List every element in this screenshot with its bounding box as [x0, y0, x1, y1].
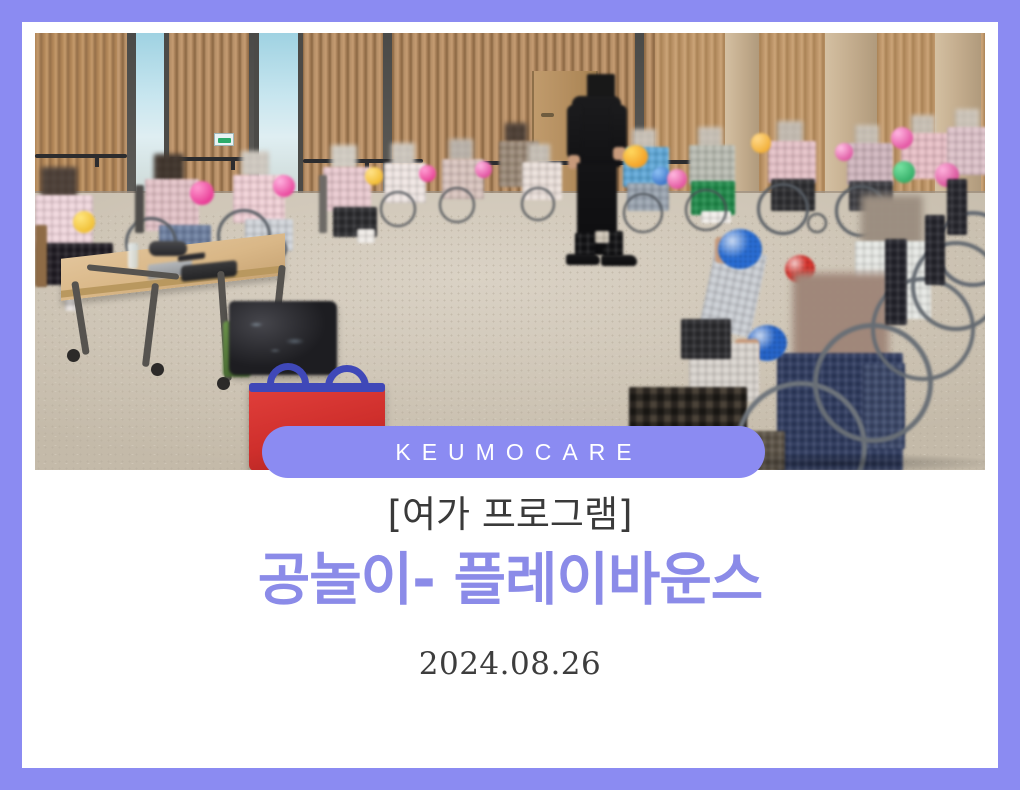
wheelchair-wheel — [439, 187, 475, 223]
page-title: 공놀이- 플레이바운스 — [22, 546, 998, 616]
instructor-shoe-right — [601, 255, 637, 266]
window-frame — [298, 33, 303, 201]
person-torso — [847, 143, 893, 185]
badge-label: KEUMOCARE — [384, 439, 642, 466]
poster-card: KEUMOCARE [여가 프로그램] 공놀이- 플레이바운스 2024.08.… — [0, 0, 1020, 790]
photo-canvas — [35, 33, 985, 470]
wheelchair-back — [925, 215, 945, 285]
table-caster — [151, 363, 164, 376]
person-head — [528, 144, 550, 164]
bluetooth-speaker — [149, 241, 187, 256]
handrail-post — [231, 157, 235, 170]
person-head — [449, 139, 473, 161]
wheelchair-wheel — [521, 187, 555, 221]
instructor-shoe-left — [566, 254, 600, 265]
wheelchair-wheel — [380, 191, 416, 227]
green-ball — [893, 161, 915, 183]
keumocare-badge: KEUMOCARE — [262, 426, 765, 478]
chair — [35, 225, 47, 287]
person-torso — [768, 141, 816, 183]
wheelchair-wheel — [685, 189, 727, 231]
wheelchair-back — [947, 179, 967, 235]
orange-ball-instructor — [623, 145, 648, 168]
pink-ball — [667, 169, 687, 189]
wall-handrail — [35, 154, 127, 158]
wheelchair-back — [135, 185, 144, 233]
wheelchair-wheel — [757, 183, 809, 235]
wheelchair-caster — [807, 213, 827, 233]
program-category: [여가 프로그램] — [22, 492, 998, 538]
blue-spiky-ball — [718, 229, 762, 269]
water-bottle — [128, 243, 138, 269]
person-torso — [689, 145, 735, 185]
pink-ball — [475, 161, 492, 178]
caption-block: [여가 프로그램] 공놀이- 플레이바운스 2024.08.26 — [22, 492, 998, 682]
instructor-arm-right — [611, 105, 627, 151]
person-head — [154, 154, 184, 182]
poster-inner: KEUMOCARE [여가 프로그램] 공놀이- 플레이바운스 2024.08.… — [22, 22, 998, 768]
person-lap — [681, 319, 731, 359]
table-caster — [217, 377, 230, 390]
pink-ball — [891, 127, 913, 149]
yellow-ball — [73, 211, 95, 233]
door-handle — [541, 113, 554, 117]
chair — [319, 175, 327, 233]
person-head — [331, 145, 357, 169]
event-date: 2024.08.26 — [22, 646, 998, 682]
wheelchair-wheel — [623, 193, 663, 233]
person-head — [241, 151, 269, 177]
pink-ball — [273, 175, 295, 197]
instructor-arm-left — [567, 105, 582, 159]
person-shoe — [357, 229, 375, 243]
pink-ball — [835, 143, 853, 161]
person-head — [505, 123, 527, 143]
emergency-exit-sign — [214, 133, 234, 146]
table-caster — [67, 349, 80, 362]
person-head — [391, 143, 415, 165]
orange-ball — [751, 133, 771, 153]
wall-seam — [127, 33, 136, 201]
floor-detail — [595, 231, 609, 243]
pink-ball — [419, 165, 436, 182]
handrail-post — [95, 154, 99, 167]
pink-ball — [190, 181, 214, 205]
person-torso — [323, 167, 371, 211]
wheelchair-back — [885, 239, 907, 325]
yellow-ball — [365, 167, 383, 185]
event-photo — [35, 33, 985, 470]
